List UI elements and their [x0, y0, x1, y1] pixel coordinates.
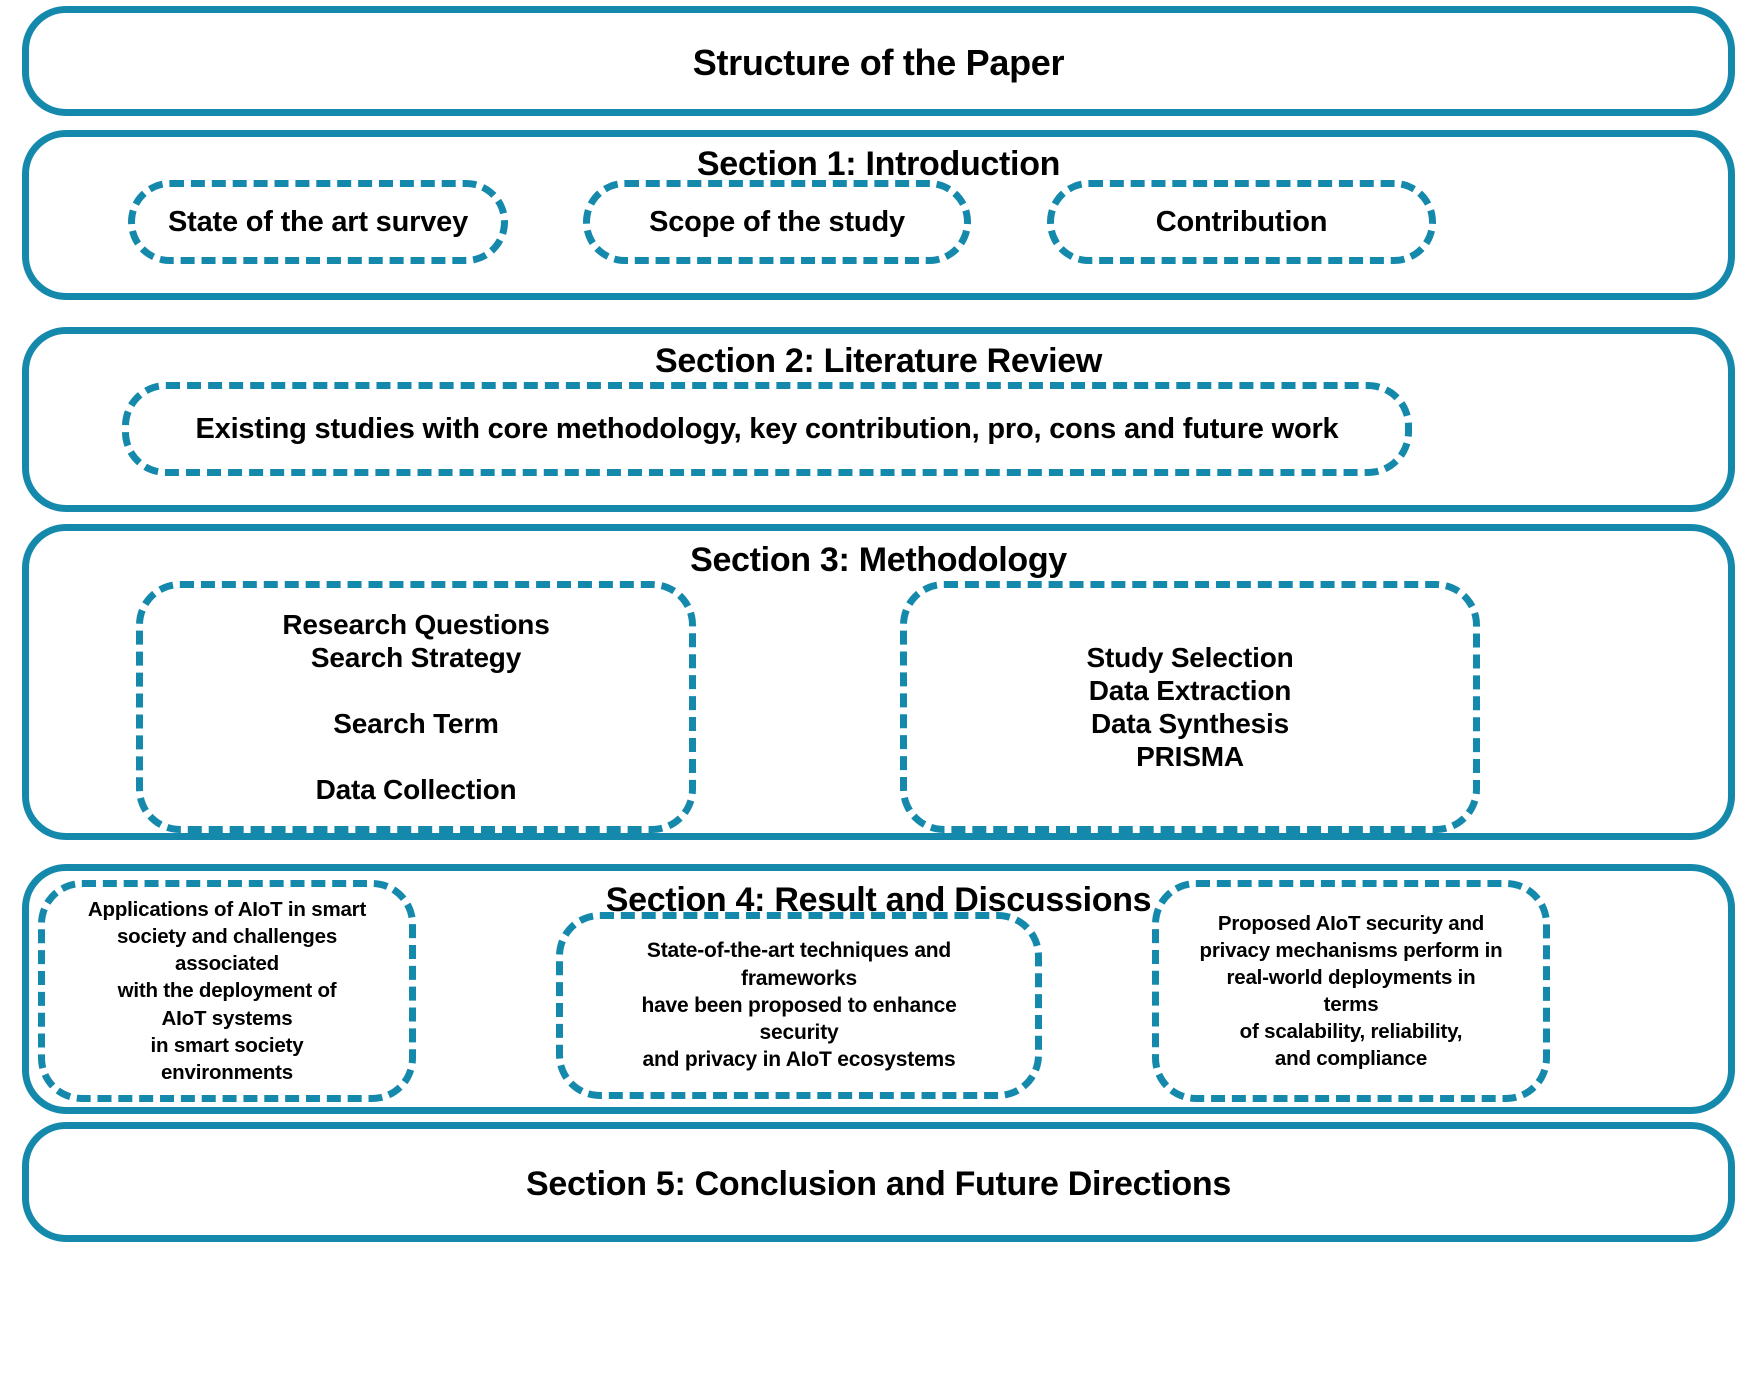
section-4-box-applications[interactable]: Applications of AIoT in smart society an… [38, 880, 416, 1102]
section-3-box-research-process[interactable]: Research Questions Search Strategy Searc… [136, 581, 696, 833]
section-1-box-label: Contribution [1142, 201, 1342, 243]
section-4-box-label: State-of-the-art techniques and framewor… [627, 933, 970, 1077]
section-3-box-label: Research Questions Search Strategy Searc… [268, 604, 563, 810]
section-1-box-scope-of-study[interactable]: Scope of the study [583, 180, 971, 264]
section-1-box-state-of-the-art[interactable]: State of the art survey [128, 180, 508, 264]
section-5-container: Section 5: Conclusion and Future Directi… [22, 1122, 1735, 1242]
section-3-box-study-analysis[interactable]: Study Selection Data Extraction Data Syn… [900, 581, 1480, 833]
section-4-box-label: Applications of AIoT in smart society an… [74, 892, 380, 1089]
header-box: Structure of the Paper [22, 6, 1735, 116]
page-title: Structure of the Paper [29, 42, 1728, 84]
section-2-box-existing-studies[interactable]: Existing studies with core methodology, … [122, 382, 1412, 476]
section-2-box-label: Existing studies with core methodology, … [188, 412, 1347, 446]
section-3-box-label: Study Selection Data Extraction Data Syn… [1072, 637, 1307, 777]
section-4-box-proposed-mechanisms[interactable]: Proposed AIoT security and privacy mecha… [1152, 880, 1550, 1102]
section-1-box-label: State of the art survey [154, 201, 482, 243]
section-1-box-label: Scope of the study [635, 201, 919, 243]
section-2-title: Section 2: Literature Review [29, 342, 1728, 381]
section-1-box-contribution[interactable]: Contribution [1047, 180, 1436, 264]
section-4-box-label: Proposed AIoT security and privacy mecha… [1186, 906, 1517, 1076]
paper-structure-diagram: Structure of the Paper Section 1: Introd… [0, 0, 1755, 1374]
section-1-title: Section 1: Introduction [29, 145, 1728, 184]
section-3-title: Section 3: Methodology [29, 541, 1728, 580]
section-5-title: Section 5: Conclusion and Future Directi… [29, 1165, 1728, 1204]
section-4-box-techniques[interactable]: State-of-the-art techniques and framewor… [556, 912, 1042, 1099]
